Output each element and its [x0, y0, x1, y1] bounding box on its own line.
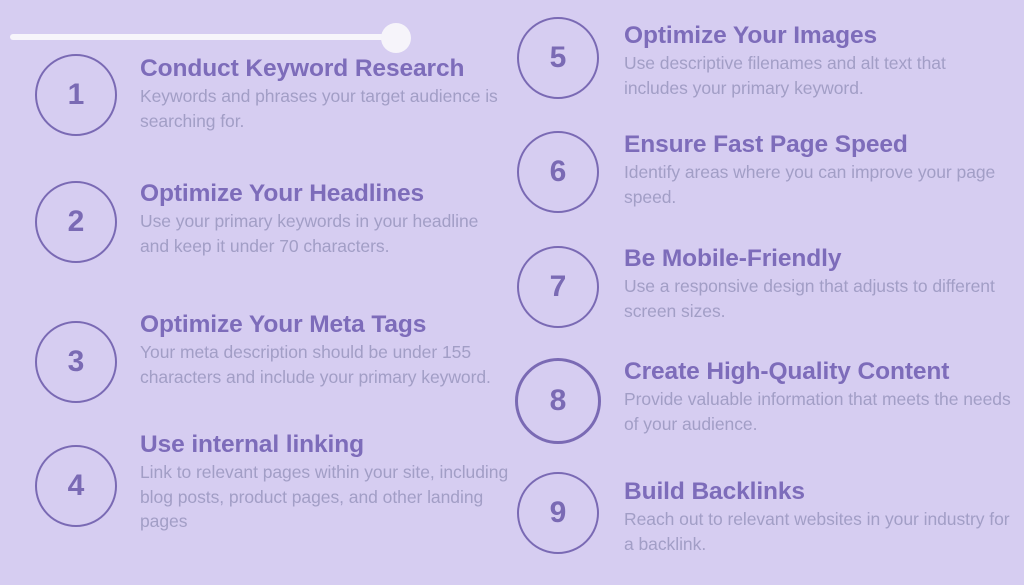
step-badge-2: 2	[35, 181, 117, 263]
step-number-2: 2	[68, 207, 85, 237]
step-badge-3: 3	[35, 321, 117, 403]
step-body-7: Be Mobile-Friendly Use a responsive desi…	[624, 245, 1014, 323]
step-badge-1: 1	[35, 54, 117, 136]
step-title-4: Use internal linking	[140, 431, 516, 458]
step-number-8: 8	[550, 386, 567, 416]
step-title-3: Optimize Your Meta Tags	[140, 311, 512, 338]
step-body-4: Use internal linking Link to relevant pa…	[140, 431, 516, 533]
step-body-8: Create High-Quality Content Provide valu…	[624, 358, 1020, 436]
step-description-5: Use descriptive filenames and alt text t…	[624, 51, 1014, 99]
slide-canvas: 1 Conduct Keyword Research Keywords and …	[0, 0, 1024, 585]
step-title-8: Create High-Quality Content	[624, 358, 1020, 385]
step-badge-9: 9	[517, 472, 599, 554]
step-description-1: Keywords and phrases your target audienc…	[140, 84, 512, 132]
steps-column-right: 5 Optimize Your Images Use descriptive f…	[512, 0, 1024, 585]
step-number-6: 6	[550, 157, 567, 187]
step-description-8: Provide valuable information that meets …	[624, 387, 1020, 435]
step-description-3: Your meta description should be under 15…	[140, 340, 512, 388]
step-description-9: Reach out to relevant websites in your i…	[624, 507, 1014, 555]
step-badge-8: 8	[515, 358, 601, 444]
step-title-2: Optimize Your Headlines	[140, 180, 512, 207]
step-number-1: 1	[68, 80, 85, 110]
step-body-2: Optimize Your Headlines Use your primary…	[140, 180, 512, 258]
step-description-2: Use your primary keywords in your headli…	[140, 209, 512, 257]
step-badge-6: 6	[517, 131, 599, 213]
step-body-9: Build Backlinks Reach out to relevant we…	[624, 478, 1014, 556]
step-body-3: Optimize Your Meta Tags Your meta descri…	[140, 311, 512, 389]
step-body-5: Optimize Your Images Use descriptive fil…	[624, 22, 1014, 100]
step-badge-5: 5	[517, 17, 599, 99]
step-title-7: Be Mobile-Friendly	[624, 245, 1014, 272]
step-body-6: Ensure Fast Page Speed Identify areas wh…	[624, 131, 1016, 209]
step-title-1: Conduct Keyword Research	[140, 55, 512, 82]
step-title-6: Ensure Fast Page Speed	[624, 131, 1016, 158]
step-title-9: Build Backlinks	[624, 478, 1014, 505]
step-number-3: 3	[68, 347, 85, 377]
step-badge-7: 7	[517, 246, 599, 328]
step-description-6: Identify areas where you can improve you…	[624, 160, 1016, 208]
step-number-5: 5	[550, 43, 567, 73]
step-badge-4: 4	[35, 445, 117, 527]
step-description-7: Use a responsive design that adjusts to …	[624, 274, 1014, 322]
step-title-5: Optimize Your Images	[624, 22, 1014, 49]
steps-column-left: 1 Conduct Keyword Research Keywords and …	[0, 0, 512, 585]
step-number-7: 7	[550, 272, 567, 302]
step-number-9: 9	[550, 498, 567, 528]
step-body-1: Conduct Keyword Research Keywords and ph…	[140, 55, 512, 133]
step-number-4: 4	[68, 471, 85, 501]
step-description-4: Link to relevant pages within your site,…	[140, 460, 516, 532]
